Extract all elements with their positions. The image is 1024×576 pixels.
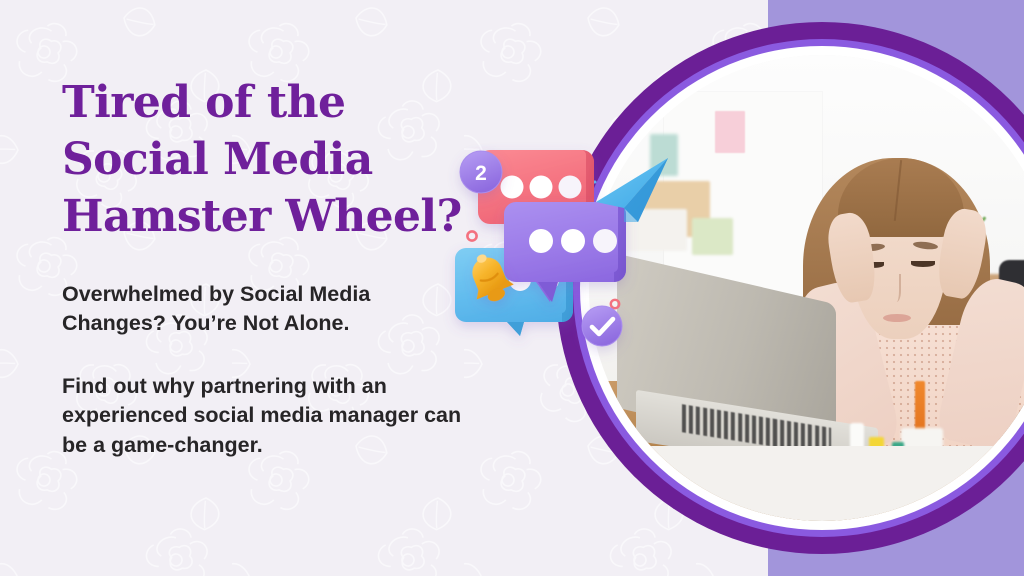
- right-eye: [911, 261, 934, 267]
- body-text: Find out why partnering with an experien…: [62, 372, 462, 460]
- dot-accent-icon-2: [611, 300, 619, 308]
- subheading-text: Overwhelmed by Social Media Changes? You…: [62, 280, 442, 338]
- chat-bubble-illustration: 2: [440, 140, 680, 370]
- text-column: Tired of the Social Media Hamster Wheel?…: [62, 74, 492, 460]
- page-title: Tired of the Social Media Hamster Wheel?: [62, 74, 492, 246]
- dot-accent-icon: [467, 231, 476, 240]
- desk-foreground: [589, 446, 1024, 521]
- sticky-note: [715, 111, 745, 153]
- mouth: [883, 314, 911, 322]
- nose: [890, 274, 901, 302]
- notification-badge: 2: [460, 151, 502, 193]
- notification-badge-count: 2: [475, 162, 487, 185]
- green-folder: [692, 218, 734, 255]
- promo-banner: Tired of the Social Media Hamster Wheel?…: [0, 0, 1024, 576]
- check-circle-icon: [582, 306, 622, 346]
